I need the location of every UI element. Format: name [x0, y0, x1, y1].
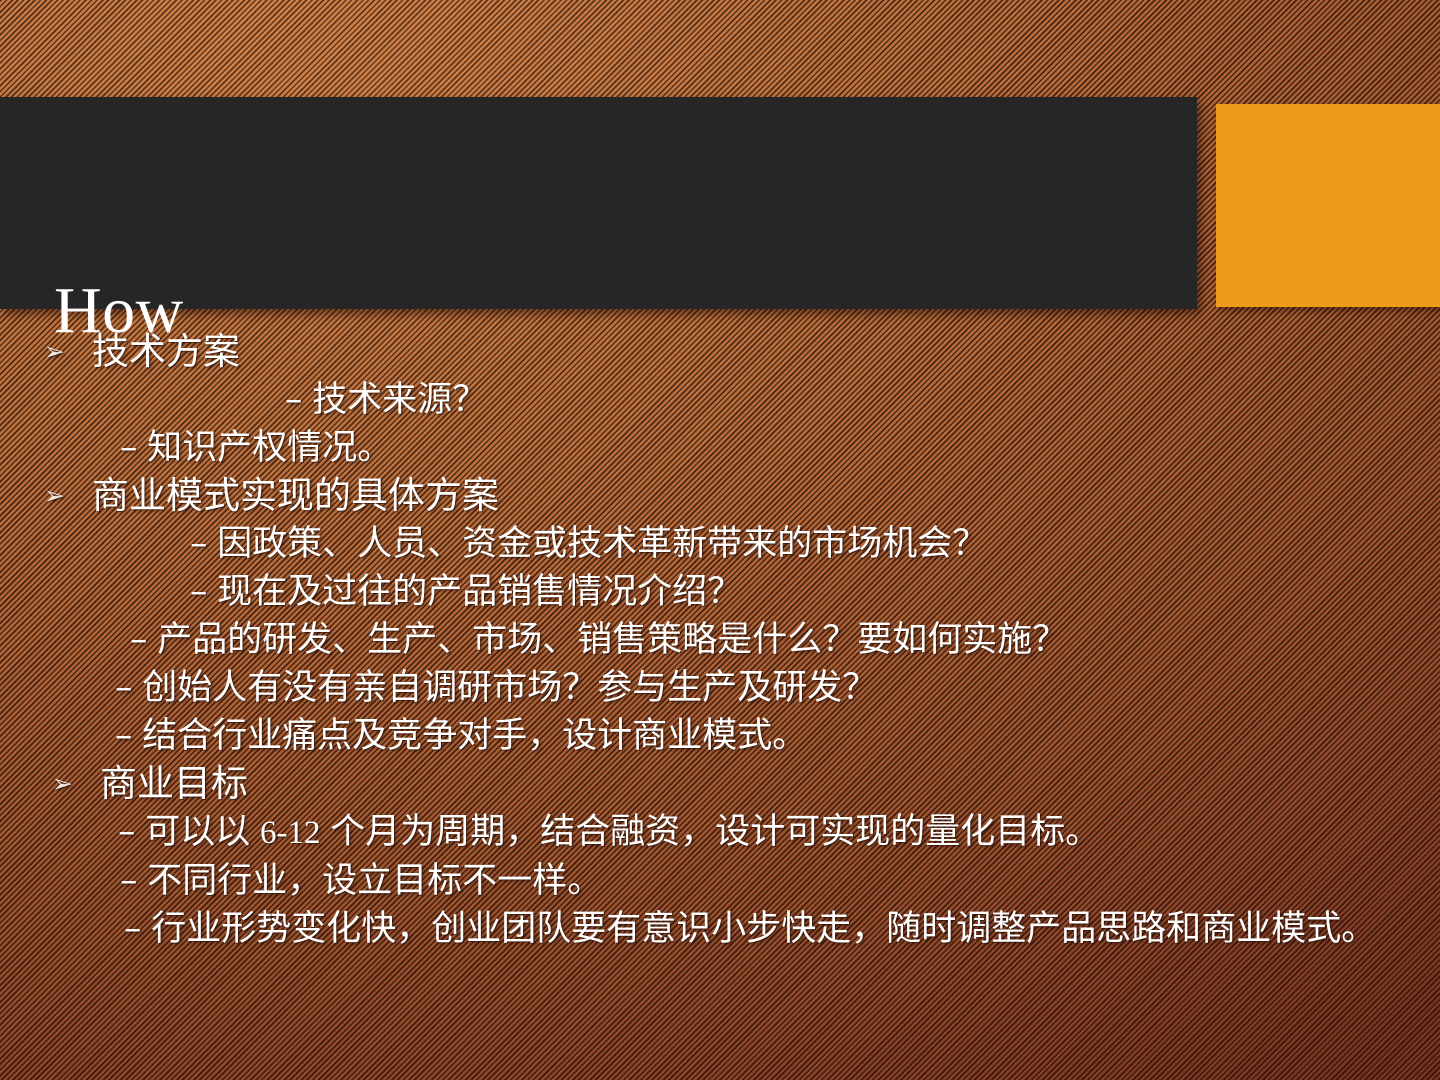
bullet-item-level1: ➢技术方案 [0, 328, 1440, 376]
bullet-spacer [138, 861, 148, 900]
dash-bullet-icon: – [285, 380, 303, 420]
slide-body: ➢技术方案– 技术来源？– 知识产权情况。➢商业模式实现的具体方案– 因政策、人… [0, 328, 1440, 1028]
sub-bullet-label: 创始人有没有亲自调研市场？参与生产及研发？ [142, 668, 877, 707]
dash-bullet-icon: – [115, 668, 133, 708]
bullet-item-level2: – 产品的研发、生产、市场、销售策略是什么？要如何实施？ [0, 616, 1440, 664]
title-bar: How [0, 97, 1197, 309]
bullet-item-level2: – 现在及过往的产品销售情况介绍？ [0, 568, 1440, 616]
bullet-label: 商业目标 [100, 760, 248, 808]
sub-bullet-label: 技术来源？ [312, 380, 487, 419]
sub-bullet-label: 现在及过往的产品销售情况介绍？ [217, 572, 742, 611]
dash-bullet-icon: – [115, 716, 133, 756]
bullet-item-level2: – 可以以 6-12 个月为周期，结合融资，设计可实现的量化目标。 [0, 808, 1440, 857]
bullet-spacer [148, 620, 158, 659]
bullet-spacer [133, 716, 143, 755]
bullet-label: 商业模式实现的具体方案 [92, 472, 499, 520]
title-accent-block [1216, 104, 1440, 307]
dash-bullet-icon: – [120, 861, 138, 901]
bullet-spacer [303, 380, 313, 419]
bullet-spacer [208, 572, 218, 611]
dash-bullet-icon: – [190, 524, 208, 564]
sub-bullet-label: 可以以 6-12 个月为周期，结合融资，设计可实现的量化目标。 [145, 812, 1100, 851]
bullet-item-level1: ➢商业目标 [0, 760, 1440, 808]
dash-bullet-icon: – [190, 572, 208, 612]
sub-bullet-label: 因政策、人员、资金或技术革新带来的市场机会？ [217, 524, 987, 563]
bullet-label: 技术方案 [92, 328, 240, 376]
bullet-item-level2: – 知识产权情况。 [0, 424, 1440, 472]
bullet-spacer [133, 668, 143, 707]
bullet-item-level2: – 技术来源？ [0, 376, 1440, 424]
dash-bullet-icon: – [130, 620, 148, 660]
sub-bullet-label: 不同行业，设立目标不一样。 [147, 861, 602, 900]
arrow-bullet-icon: ➢ [44, 328, 78, 376]
bullet-item-level2: – 结合行业痛点及竞争对手，设计商业模式。 [0, 712, 1440, 760]
bullet-spacer [138, 428, 148, 467]
bullet-spacer [142, 909, 152, 948]
numeric-span: 6-12 [260, 815, 321, 851]
bullet-spacer [136, 812, 146, 851]
bullet-item-level2: – 创始人有没有亲自调研市场？参与生产及研发？ [0, 664, 1440, 712]
bullet-item-level2: – 不同行业，设立目标不一样。 [0, 857, 1440, 905]
dash-bullet-icon: – [118, 812, 136, 852]
sub-bullet-label: 结合行业痛点及竞争对手，设计商业模式。 [142, 716, 807, 755]
arrow-bullet-icon: ➢ [52, 760, 86, 808]
sub-bullet-label: 产品的研发、生产、市场、销售策略是什么？要如何实施？ [157, 620, 1067, 659]
bullet-item-level1: ➢商业模式实现的具体方案 [0, 472, 1440, 520]
bullet-item-level2: – 因政策、人员、资金或技术革新带来的市场机会？ [0, 520, 1440, 568]
bullet-spacer [208, 524, 218, 563]
arrow-bullet-icon: ➢ [44, 472, 78, 520]
sub-bullet-label: 知识产权情况。 [147, 428, 392, 467]
slide-canvas: How ➢技术方案– 技术来源？– 知识产权情况。➢商业模式实现的具体方案– 因… [0, 0, 1440, 1080]
dash-bullet-icon: – [124, 909, 142, 949]
bullet-item-level2: – 行业形势变化快，创业团队要有意识小步快走，随时调整产品思路和商业模式。 [0, 905, 1440, 953]
sub-bullet-label: 行业形势变化快，创业团队要有意识小步快走，随时调整产品思路和商业模式。 [151, 909, 1376, 948]
dash-bullet-icon: – [120, 428, 138, 468]
